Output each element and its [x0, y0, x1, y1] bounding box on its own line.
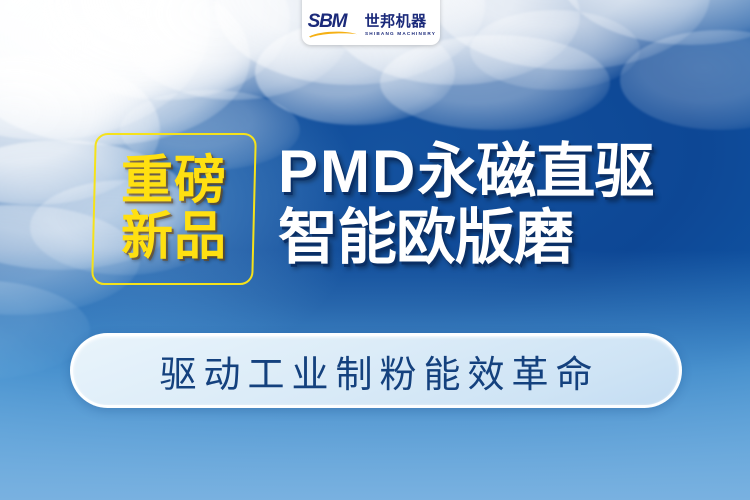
headline-block: PMD永磁直驱 智能欧版磨 [278, 139, 678, 271]
badge-line-2: 新品 [121, 210, 227, 264]
logo-company-en: SHIBANG MACHINERY [365, 32, 436, 37]
headline-latin-pmd: PMD [278, 138, 417, 205]
brand-logo[interactable]: SBM 世邦机器 SHIBANG MACHINERY [302, 0, 440, 45]
headline-line-1: PMD永磁直驱 [278, 139, 678, 205]
headline-line-2: 智能欧版磨 [278, 205, 678, 271]
promo-poster: SBM 世邦机器 SHIBANG MACHINERY 重磅 新品 PMD永磁直驱… [0, 0, 750, 500]
logo-company-names: 世邦机器 SHIBANG MACHINERY [365, 14, 435, 37]
subtitle-pill: 驱动工业制粉能效革命 [70, 333, 682, 408]
headline-cn-part: 永磁直驱 [417, 137, 653, 207]
logo-company-cn: 世邦机器 [365, 14, 427, 29]
swoosh-arc-icon [308, 29, 358, 38]
new-product-badge: 重磅 新品 [93, 133, 255, 285]
sbm-logomark: SBM [308, 12, 358, 38]
logo-inner: SBM 世邦机器 SHIBANG MACHINERY [308, 12, 435, 38]
badge-line-1: 重磅 [121, 154, 227, 208]
subtitle-text: 驱动工业制粉能效革命 [153, 344, 600, 398]
